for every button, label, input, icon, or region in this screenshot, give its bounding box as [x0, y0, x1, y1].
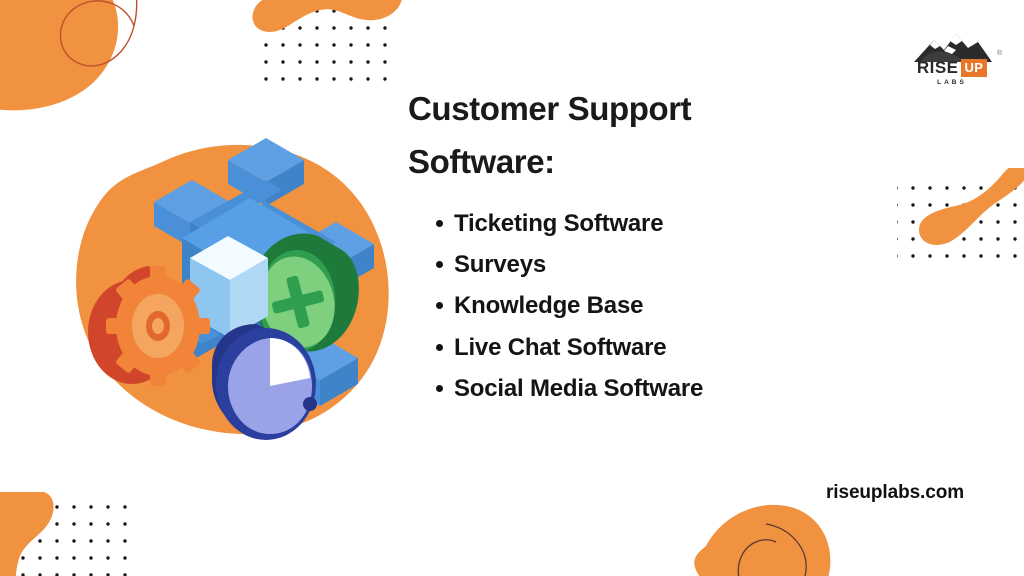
list-item-label: Social Media Software [454, 375, 703, 402]
brand-logo: RISEUP LABS ® [904, 32, 1000, 88]
list-item: Surveys [408, 244, 878, 285]
list-item-label: Live Chat Software [454, 334, 666, 361]
logo-rise-text: RISE [917, 58, 959, 78]
logo-wordmark: RISEUP LABS [904, 58, 1000, 86]
decoration-top-dot-grid [246, 0, 406, 94]
list-item: Live Chat Software [408, 327, 878, 368]
list-item: Social Media Software [408, 368, 878, 409]
page-title-line-2: Software: [408, 143, 555, 180]
decoration-bottom-right-blob [648, 498, 868, 576]
slide-canvas: Customer Support Software: Ticketing Sof… [0, 0, 1024, 576]
decoration-bottom-left-dot-grid [0, 470, 146, 576]
list-item: Knowledge Base [408, 285, 878, 326]
logo-labs-text: LABS [904, 79, 1000, 86]
page-title: Customer Support Software: [408, 82, 808, 189]
list-item: Ticketing Software [408, 203, 878, 244]
customer-support-illustration [70, 136, 400, 446]
list-item-label: Ticketing Software [454, 210, 663, 237]
list-item-label: Knowledge Base [454, 292, 643, 319]
decoration-top-left-blob [0, 0, 218, 140]
feature-list: Ticketing Software Surveys Knowledge Bas… [408, 203, 878, 409]
logo-up-badge: UP [961, 59, 988, 77]
registered-trademark-icon: ® [997, 50, 1002, 57]
website-url[interactable]: riseuplabs.com [826, 482, 964, 504]
page-title-line-1: Customer Support [408, 90, 691, 127]
text-content-block: Customer Support Software: Ticketing Sof… [408, 82, 878, 409]
decoration-right-dot-grid [893, 168, 1024, 298]
list-item-label: Surveys [454, 251, 546, 278]
